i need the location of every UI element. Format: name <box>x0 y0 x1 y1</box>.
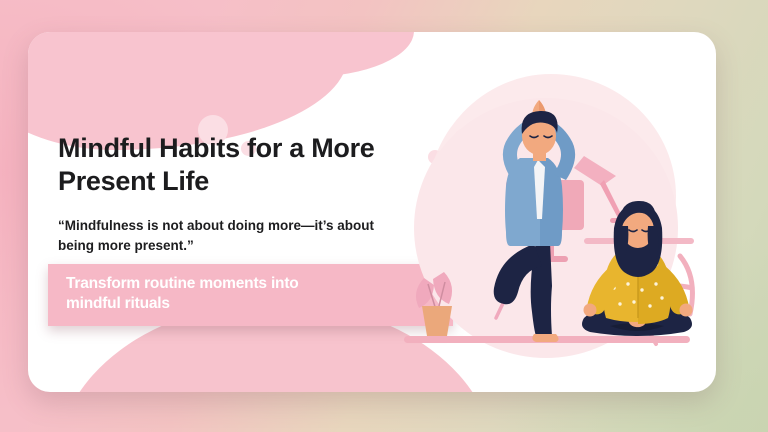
slide-card: Mindful Habits for a More Present Life “… <box>28 32 716 392</box>
quote-text: “Mindfulness is not about doing more—it’… <box>58 216 403 257</box>
page-title: Mindful Habits for a More Present Life <box>58 132 418 198</box>
yoga-illustration <box>388 60 708 380</box>
slide-canvas: Mindful Habits for a More Present Life “… <box>0 0 768 432</box>
highlight-banner-text: Transform routine moments into mindful r… <box>66 274 439 314</box>
text-column: Mindful Habits for a More Present Life “… <box>58 132 418 256</box>
